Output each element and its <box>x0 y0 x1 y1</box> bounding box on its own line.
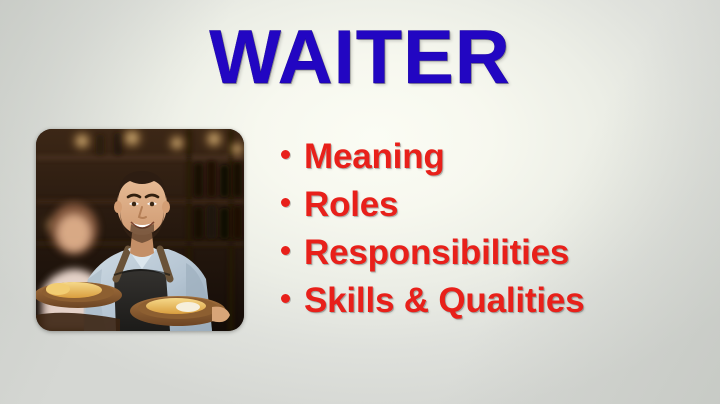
bullet-label: Meaning <box>304 136 445 178</box>
bullet-label: Roles <box>304 184 398 226</box>
bullet-label: Responsibilities <box>304 232 569 274</box>
waiter-photo <box>36 129 244 331</box>
bullet-dot-icon <box>281 198 290 207</box>
slide-canvas: WAITER <box>0 0 720 404</box>
bullet-dot-icon <box>281 246 290 255</box>
bullet-dot-icon <box>281 294 290 303</box>
bullet-list: Meaning Roles Responsibilities Skills & … <box>281 136 711 328</box>
waiter-photo-illustration <box>36 129 244 331</box>
bullet-label: Skills & Qualities <box>304 280 584 322</box>
bullet-dot-icon <box>281 150 290 159</box>
page-title: WAITER <box>0 18 720 98</box>
list-item: Roles <box>281 184 711 232</box>
list-item: Responsibilities <box>281 232 711 280</box>
list-item: Meaning <box>281 136 711 184</box>
list-item: Skills & Qualities <box>281 280 711 328</box>
